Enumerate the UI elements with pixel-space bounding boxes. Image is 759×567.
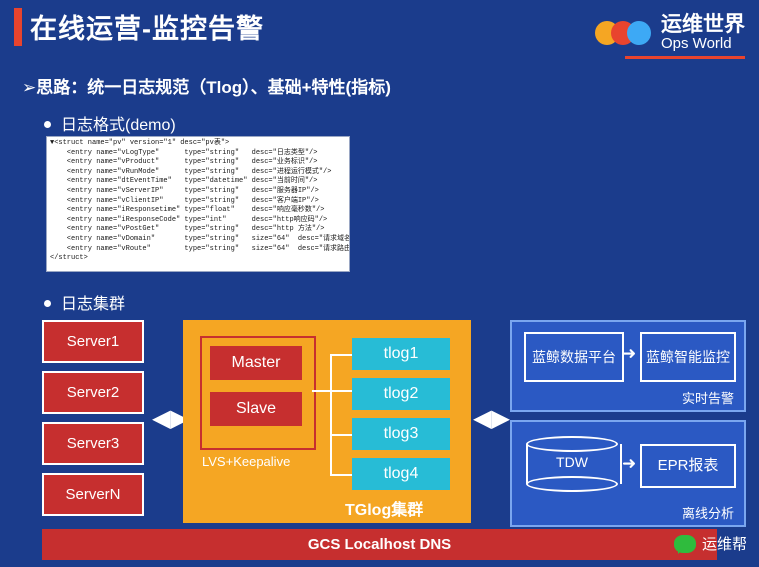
server-node-n: ServerN (42, 473, 144, 516)
bullet-dot-icon (44, 121, 51, 128)
lvs-keepalive-label: LVS+Keepalive (202, 454, 290, 469)
bluking-smart-monitor-node: 蓝鲸智能监控 (640, 332, 736, 382)
server-node-1: Server1 (42, 320, 144, 363)
slave-node: Slave (210, 392, 302, 426)
arrow-right-icon: ➜ (622, 344, 636, 364)
footer-bar: GCS Localhost DNS (42, 529, 717, 560)
server-node-3: Server3 (42, 422, 144, 465)
tlog-node-1: tlog1 (352, 338, 450, 370)
tdw-label: TDW (526, 454, 618, 470)
server-node-2: Server2 (42, 371, 144, 414)
log-format-code: ▼<struct name="pv" version="1" desc="pv表… (47, 137, 349, 266)
arrow-right-icon: ➜ (622, 454, 636, 474)
connector-line (330, 434, 352, 436)
tglog-cluster-label: TGlog集群 (345, 496, 423, 520)
tdw-database-icon: TDW (526, 436, 622, 492)
logo-title-en: Ops World (661, 36, 745, 52)
logo-circles-icon (595, 13, 657, 53)
wechat-label: 运维帮 (702, 533, 747, 554)
wechat-icon (674, 535, 696, 553)
brand-logo: 运维世界 Ops World (595, 10, 745, 56)
bullet-log-format-label: 日志格式(demo) (61, 117, 176, 134)
connector-line (330, 354, 332, 474)
footer-label: GCS Localhost DNS (308, 536, 451, 553)
connector-line (330, 474, 352, 476)
tglog-cluster-box: Master Slave LVS+Keepalive tlog1 tlog2 t… (183, 320, 471, 523)
log-format-code-box: ▼<struct name="pv" version="1" desc="pv表… (46, 136, 350, 272)
tlog-node-4: tlog4 (352, 458, 450, 490)
logo-title-cn: 运维世界 (661, 14, 745, 36)
wechat-credit: 运维帮 (674, 533, 747, 554)
page-header: 在线运营-监控告警 运维世界 Ops World (0, 0, 759, 66)
page-title: 在线运营-监控告警 (30, 7, 264, 46)
bullet-log-cluster: 日志集群 (44, 290, 125, 314)
bluking-data-platform-node: 蓝鲸数据平台 (524, 332, 624, 382)
connector-line (312, 390, 352, 392)
bullet-log-cluster-label: 日志集群 (61, 296, 125, 313)
logo-text: 运维世界 Ops World (661, 14, 745, 52)
bidirectional-arrow-icon-right: ◀▶ (473, 404, 510, 433)
server-column: Server1 Server2 Server3 ServerN (42, 320, 144, 524)
tlog-node-3: tlog3 (352, 418, 450, 450)
offline-analysis-panel: TDW ➜ EPR报表 离线分析 (510, 420, 746, 527)
logo-underline (625, 56, 745, 59)
realtime-alert-panel: 蓝鲸数据平台 ➜ 蓝鲸智能监控 实时告警 (510, 320, 746, 412)
bullet-dot-icon (44, 300, 51, 307)
connector-line (330, 354, 352, 356)
bullet-log-format: 日志格式(demo) (44, 111, 176, 135)
realtime-alert-label: 实时告警 (682, 388, 734, 407)
tlog-node-2: tlog2 (352, 378, 450, 410)
idea-line: ➢思路：统一日志规范（Tlog）、基础+特性(指标) (22, 73, 391, 98)
master-node: Master (210, 346, 302, 380)
offline-analysis-label: 离线分析 (682, 503, 734, 522)
title-accent-bar (14, 8, 22, 46)
epr-report-node: EPR报表 (640, 444, 736, 488)
